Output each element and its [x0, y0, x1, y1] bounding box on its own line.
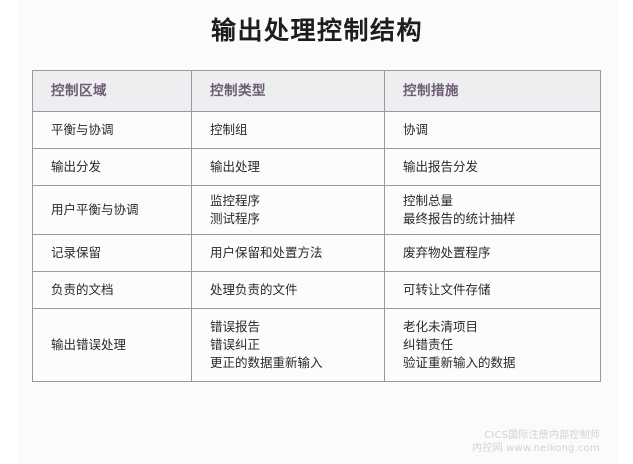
cell-line: 测试程序 [210, 210, 384, 228]
page-title: 输出处理控制结构 [17, 14, 617, 48]
cell-control-area: 记录保留 [33, 235, 192, 272]
slide-canvas: 输出处理控制结构 控制区域 控制类型 控制措施 [0, 0, 633, 464]
cell-control-type: 输出处理 [192, 149, 385, 186]
cell-control-measure: 可转让文件存储 [385, 272, 601, 309]
column-header-control-measure: 控制措施 [385, 71, 601, 112]
table-header: 控制区域 控制类型 控制措施 [33, 71, 601, 112]
cell-line: 最终报告的统计抽样 [403, 210, 600, 228]
cell-control-area: 输出分发 [33, 149, 192, 186]
cell-line: 负责的文档 [51, 281, 191, 299]
cell-line: 可转让文件存储 [403, 281, 600, 299]
cell-control-measure: 废弃物处置程序 [385, 235, 601, 272]
cell-line: 老化未清项目 [403, 318, 600, 336]
cell-line: 错误纠正 [210, 336, 384, 354]
cell-control-type: 处理负责的文件 [192, 272, 385, 309]
cell-line: 协调 [403, 121, 600, 139]
cell-control-type: 控制组 [192, 112, 385, 149]
cell-line: 处理负责的文件 [210, 281, 384, 299]
table-row: 输出错误处理 错误报告 错误纠正 更正的数据重新输入 老化未清项目 纠错责任 验… [33, 309, 601, 382]
cell-line: 输出处理 [210, 158, 384, 176]
cell-line: 错误报告 [210, 318, 384, 336]
table-header-row: 控制区域 控制类型 控制措施 [33, 71, 601, 112]
table-body: 平衡与协调 控制组 协调 输出分发 [33, 112, 601, 382]
cell-line: 用户保留和处置方法 [210, 244, 384, 262]
cell-control-measure: 协调 [385, 112, 601, 149]
table-row: 平衡与协调 控制组 协调 [33, 112, 601, 149]
cell-line: 验证重新输入的数据 [403, 354, 600, 372]
cell-control-type: 错误报告 错误纠正 更正的数据重新输入 [192, 309, 385, 382]
cell-line: 废弃物处置程序 [403, 244, 600, 262]
table-row: 输出分发 输出处理 输出报告分发 [33, 149, 601, 186]
cell-line: 输出分发 [51, 158, 191, 176]
control-structure-table-wrapper: 控制区域 控制类型 控制措施 平衡与协调 控制组 协调 [32, 70, 600, 382]
table-row: 负责的文档 处理负责的文件 可转让文件存储 [33, 272, 601, 309]
cell-control-area: 负责的文档 [33, 272, 192, 309]
cell-line: 平衡与协调 [51, 121, 191, 139]
cell-line: 控制组 [210, 121, 384, 139]
cell-control-area: 平衡与协调 [33, 112, 192, 149]
cell-line: 监控程序 [210, 192, 384, 210]
cell-line: 输出报告分发 [403, 158, 600, 176]
watermark-line-2: 内控网 www.neikong.com [472, 442, 600, 455]
cell-line: 纠错责任 [403, 336, 600, 354]
cell-control-measure: 老化未清项目 纠错责任 验证重新输入的数据 [385, 309, 601, 382]
cell-line: 更正的数据重新输入 [210, 354, 384, 372]
cell-control-type: 用户保留和处置方法 [192, 235, 385, 272]
table-row: 记录保留 用户保留和处置方法 废弃物处置程序 [33, 235, 601, 272]
slide-content: 输出处理控制结构 控制区域 控制类型 控制措施 [17, 0, 617, 464]
column-header-control-area: 控制区域 [33, 71, 192, 112]
cell-control-measure: 输出报告分发 [385, 149, 601, 186]
cell-control-area: 用户平衡与协调 [33, 186, 192, 235]
cell-control-type: 监控程序 测试程序 [192, 186, 385, 235]
watermark-line-1: CICS国际注册内部控制师 [472, 429, 600, 442]
cell-line: 用户平衡与协调 [51, 201, 191, 219]
cell-line: 输出错误处理 [51, 336, 191, 354]
cell-line: 记录保留 [51, 244, 191, 262]
control-structure-table: 控制区域 控制类型 控制措施 平衡与协调 控制组 协调 [32, 70, 601, 382]
cell-control-measure: 控制总量 最终报告的统计抽样 [385, 186, 601, 235]
column-header-control-type: 控制类型 [192, 71, 385, 112]
watermark: CICS国际注册内部控制师 内控网 www.neikong.com [472, 429, 600, 455]
cell-control-area: 输出错误处理 [33, 309, 192, 382]
table-row: 用户平衡与协调 监控程序 测试程序 控制总量 最终报告的统计抽样 [33, 186, 601, 235]
cell-line: 控制总量 [403, 192, 600, 210]
